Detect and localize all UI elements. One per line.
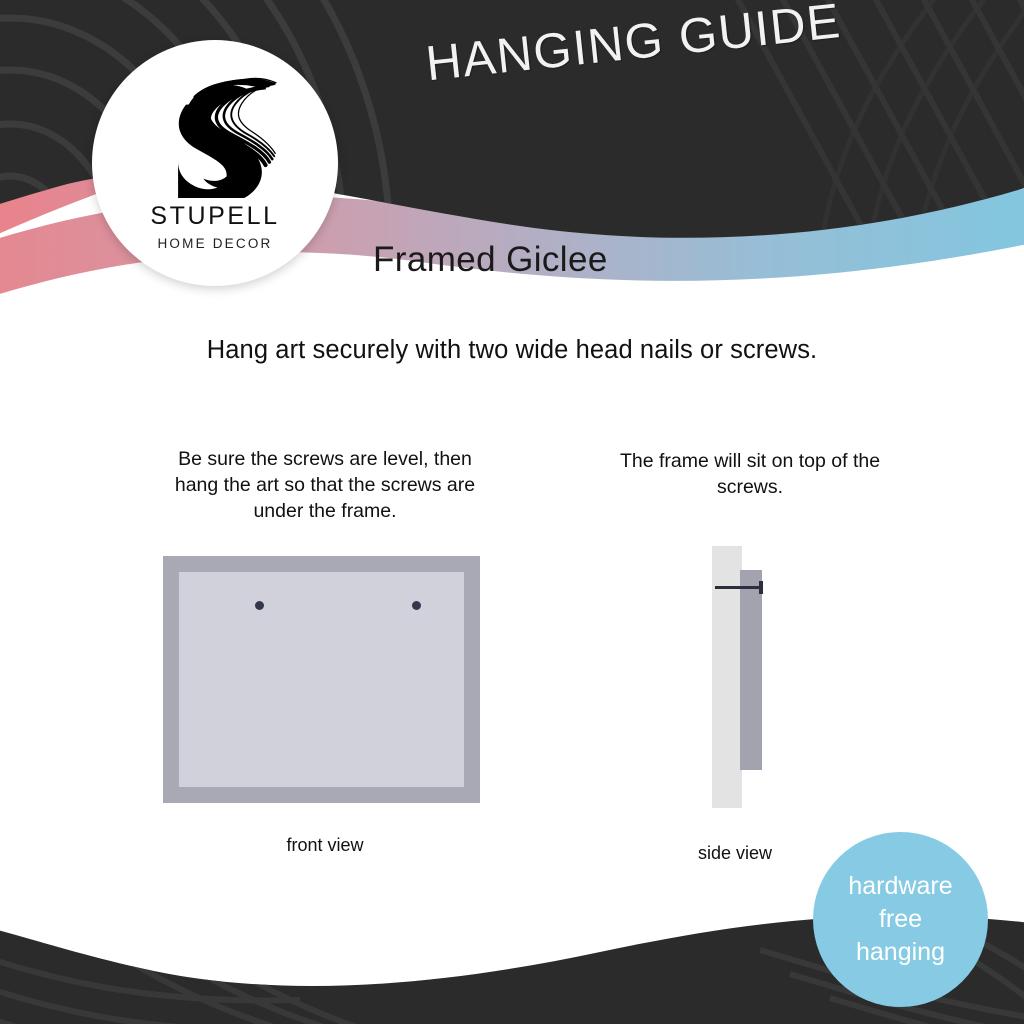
nail-head-icon (759, 581, 763, 594)
hanging-guide-page: HANGING GUIDE STUPELL HOME DECOR Framed … (0, 0, 1024, 1024)
badge-line-2: free (879, 903, 922, 936)
hardware-free-hanging-badge: hardware free hanging (813, 832, 988, 1007)
product-type-subtitle: Framed Giclee (373, 240, 608, 280)
screw-hole-left (255, 601, 264, 610)
lead-instruction-text: Hang art securely with two wide head nai… (0, 336, 1024, 365)
page-title: HANGING GUIDE (372, 0, 895, 98)
brand-tagline: HOME DECOR (157, 236, 272, 251)
side-view-diagram (700, 546, 810, 816)
front-view-label: front view (200, 835, 450, 856)
front-view-diagram (163, 556, 480, 803)
side-view-frame (740, 570, 762, 770)
side-view-caption: The frame will sit on top of the screws. (600, 448, 900, 500)
side-view-label: side view (640, 843, 830, 864)
brand-name: STUPELL (150, 202, 279, 231)
badge-line-1: hardware (848, 870, 952, 903)
nail-shaft-icon (715, 586, 762, 589)
screw-hole-right (412, 601, 421, 610)
badge-line-3: hanging (856, 936, 945, 969)
front-view-caption: Be sure the screws are level, then hang … (160, 446, 490, 524)
stupell-swoosh-icon (147, 64, 283, 200)
brand-logo-badge: STUPELL HOME DECOR (92, 40, 338, 286)
front-view-mat (179, 572, 464, 787)
